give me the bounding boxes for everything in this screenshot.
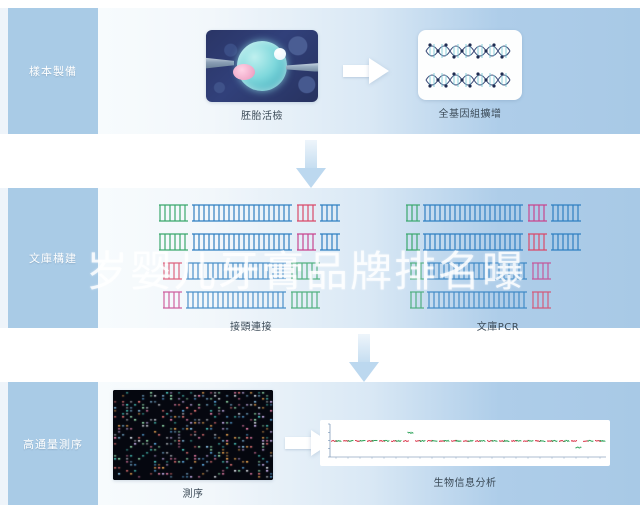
gel-canvas xyxy=(113,390,273,480)
dna-strand-bottom xyxy=(424,68,516,92)
pcr-strand-2 xyxy=(403,231,593,253)
arrow-down-icon-1 xyxy=(296,140,326,188)
panel-sequencing[interactable]: 測序 xyxy=(113,390,273,500)
caption-sequencing: 測序 xyxy=(113,485,273,500)
arrow-shaft xyxy=(358,334,370,364)
library-pcr-image xyxy=(403,202,593,311)
arrow-down-icon-2 xyxy=(349,334,379,382)
panel-adapter-ligation[interactable]: 接頭連接 xyxy=(156,202,346,333)
arrow-head xyxy=(349,362,379,382)
arrow-right-icon-row1 xyxy=(343,58,389,84)
row-content: 胚胎活檢 xyxy=(98,8,640,134)
stage-label-sample-prep: 樣本製備 xyxy=(8,8,98,134)
pcr-strand-3 xyxy=(403,260,593,282)
holding-pipette-icon xyxy=(206,58,234,69)
dna-strand-top xyxy=(424,39,516,63)
caption-adapter-ligation: 接頭連接 xyxy=(156,318,346,333)
caption-wga: 全基因組擴增 xyxy=(418,105,522,120)
panel-wga[interactable]: 全基因組擴增 xyxy=(418,30,522,120)
caption-embryo-biopsy: 胚胎活檢 xyxy=(206,107,318,122)
vacuole-shape xyxy=(274,48,286,60)
row-content: 測序 生物信息分析 xyxy=(98,382,640,505)
sequencing-gel-image xyxy=(113,390,273,480)
biopsy-pipette-icon xyxy=(286,63,318,72)
arrow-head xyxy=(369,58,389,84)
panel-bioinformatics[interactable]: 生物信息分析 xyxy=(320,420,610,489)
pcr-strand-1 xyxy=(403,202,593,224)
strand-3 xyxy=(156,260,346,282)
workflow-figure: 樣本製備 胚胎活檢 xyxy=(0,0,640,513)
arrow-shaft xyxy=(343,65,371,77)
cnv-plot-svg xyxy=(320,420,610,466)
workflow-row-library-construction: 文庫構建 xyxy=(0,188,640,328)
adapter-ligation-image xyxy=(156,202,346,311)
arrow-shaft xyxy=(285,437,313,449)
inner-cell-mass-shape xyxy=(233,64,255,80)
caption-library-pcr: 文庫PCR xyxy=(403,318,593,333)
row-content: 接頭連接 xyxy=(98,188,640,328)
cnv-plot-image xyxy=(320,420,610,466)
caption-bioinformatics: 生物信息分析 xyxy=(320,474,610,489)
panel-library-pcr[interactable]: 文庫PCR xyxy=(403,202,593,333)
strand-1 xyxy=(156,202,346,224)
dna-helix-image xyxy=(418,30,522,100)
pcr-strand-4 xyxy=(403,289,593,311)
embryo-biopsy-image xyxy=(206,30,318,102)
stage-label-library-construction: 文庫構建 xyxy=(8,188,98,328)
strand-2 xyxy=(156,231,346,253)
arrow-head xyxy=(296,168,326,188)
strand-4 xyxy=(156,289,346,311)
workflow-row-sequencing: 高通量測序 測序 生物信息分析 xyxy=(0,382,640,505)
panel-embryo-biopsy[interactable]: 胚胎活檢 xyxy=(206,30,318,122)
arrow-shaft xyxy=(305,140,317,170)
stage-label-sequencing: 高通量測序 xyxy=(8,382,98,505)
workflow-row-sample-prep: 樣本製備 胚胎活檢 xyxy=(0,8,640,134)
